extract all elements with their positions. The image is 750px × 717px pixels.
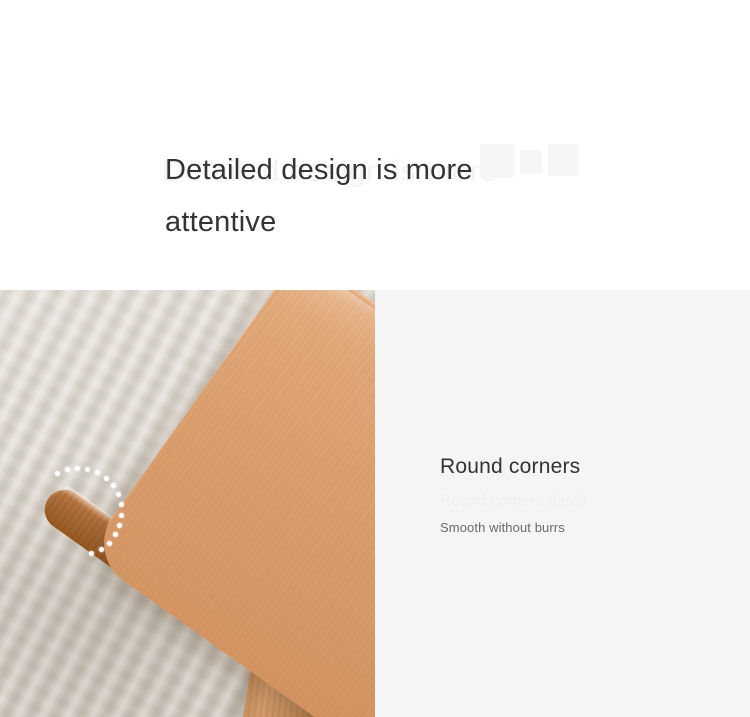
- arc-dot-icon: [113, 532, 118, 537]
- arc-dot-icon: [75, 466, 80, 471]
- arc-dot-icon: [104, 476, 109, 481]
- arc-dot-icon: [111, 483, 116, 488]
- product-detail-page: Detailed design is more Detailed design …: [0, 0, 750, 717]
- arc-dot-icon: [117, 523, 122, 528]
- page-title-line-2: attentive: [165, 196, 565, 248]
- feature-subtitle: Smooth without burrs: [440, 520, 565, 535]
- arc-dot-icon: [107, 541, 112, 546]
- product-photo: [0, 290, 375, 717]
- feature-section: [0, 290, 750, 717]
- arc-dot-icon: [89, 551, 94, 556]
- corner-dotted-arc: [0, 290, 375, 717]
- arc-dot-icon: [65, 467, 70, 472]
- page-title-line-1: Detailed design is more: [165, 144, 565, 196]
- arc-dot-icon: [99, 547, 104, 552]
- feature-title: Round corners: [440, 455, 580, 479]
- arc-dot-icon: [116, 492, 121, 497]
- arc-dot-icon: [95, 470, 100, 475]
- arc-dot-icon: [55, 471, 60, 476]
- arc-dot-icon: [85, 467, 90, 472]
- arc-dot-icon: [119, 513, 124, 518]
- arc-dot-icon: [119, 502, 124, 507]
- page-title: Detailed design is more attentive: [165, 144, 565, 248]
- feature-ghost-text: Round corners detail: [440, 492, 586, 509]
- header-section: Detailed design is more Detailed design …: [0, 0, 750, 290]
